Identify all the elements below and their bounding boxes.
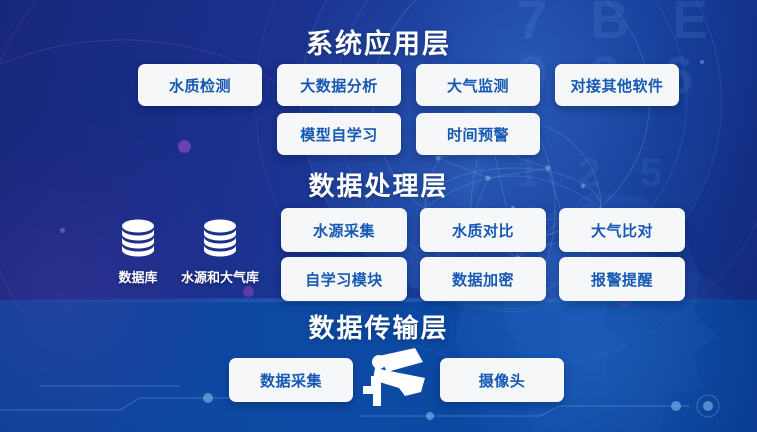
architecture-diagram: 7 B E 9 3 6 1 2 5 4 9 <box>0 0 757 432</box>
app-chip-integration[interactable]: 对接其他软件 <box>555 64 679 106</box>
trans-chip-camera[interactable]: 摄像头 <box>440 358 564 402</box>
app-chip-big-data[interactable]: 大数据分析 <box>277 64 401 106</box>
application-layer-title: 系统应用层 <box>0 22 757 61</box>
database-icon <box>115 216 161 262</box>
processing-layer-title: 数据处理层 <box>0 166 757 203</box>
proc-chip-encryption[interactable]: 数据加密 <box>420 257 546 301</box>
proc-chip-air-compare[interactable]: 大气比对 <box>559 208 685 252</box>
proc-chip-self-learning[interactable]: 自学习模块 <box>281 257 407 301</box>
transmission-layer-title: 数据传输层 <box>0 308 757 345</box>
cctv-camera-icon <box>349 348 445 410</box>
app-chip-model-learning[interactable]: 模型自学习 <box>277 113 401 155</box>
app-chip-water-quality[interactable]: 水质检测 <box>138 64 262 106</box>
proc-chip-water-collect[interactable]: 水源采集 <box>281 208 407 252</box>
app-chip-air-monitor[interactable]: 大气监测 <box>416 64 540 106</box>
database-label: 水源和大气库 <box>172 267 268 286</box>
database-icon <box>197 216 243 262</box>
trans-chip-data-collect[interactable]: 数据采集 <box>229 358 353 402</box>
app-chip-time-alert[interactable]: 时间预警 <box>416 113 540 155</box>
database-node-water-air[interactable]: 水源和大气库 <box>172 216 268 286</box>
proc-chip-water-compare[interactable]: 水质对比 <box>420 208 546 252</box>
proc-chip-alarm[interactable]: 报警提醒 <box>559 257 685 301</box>
